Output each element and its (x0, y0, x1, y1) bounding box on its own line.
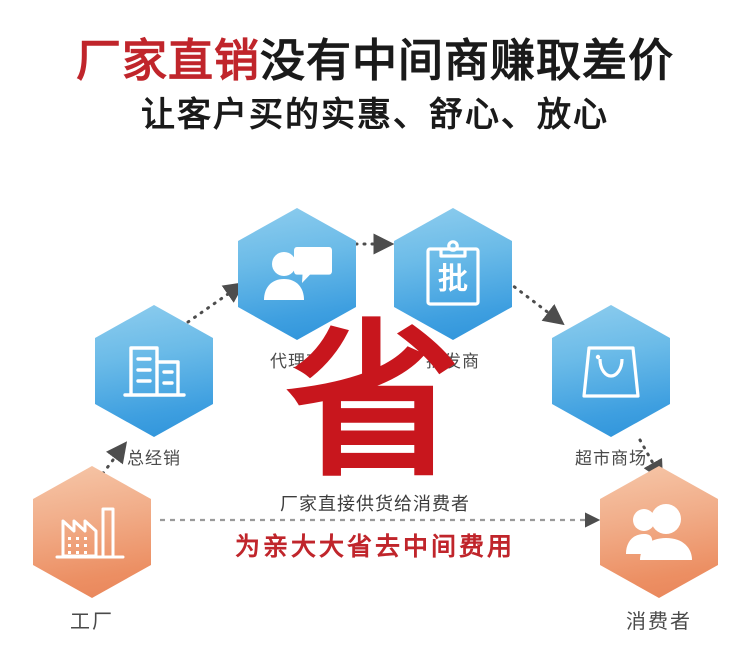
savings-caption: 为亲大大省去中间费用 (0, 527, 750, 563)
savings-stamp: 省 (288, 318, 458, 488)
node-distributor-label: 总经销 (95, 444, 213, 469)
headline-rest: 没有中间商赚取差价 (260, 35, 674, 86)
node-distributor[interactable]: 总经销 (95, 305, 213, 469)
shopping-bag-icon (580, 340, 642, 402)
headline-subtitle: 让客户买的实惠、舒心、放心 (0, 95, 750, 136)
headline-highlight: 厂家直销 (76, 35, 260, 86)
node-market[interactable]: 超市商场 (552, 305, 670, 469)
infographic-canvas: 厂家直销没有中间商赚取差价 让客户买的实惠、舒心、放心 (0, 0, 750, 659)
node-market-hexagon (552, 305, 670, 437)
headline-main: 厂家直销没有中间商赚取差价 (0, 34, 750, 87)
office-buildings-icon (121, 340, 187, 402)
savings-stamp-character: 省 (285, 318, 462, 486)
node-distributor-hexagon (95, 305, 213, 437)
node-factory-label: 工厂 (33, 605, 151, 634)
arrow-wholesaler-to-market (508, 282, 558, 320)
clipboard-icon-text: 批 (438, 262, 468, 297)
person-speech-bubble-icon (261, 243, 333, 305)
direct-supply-caption: 厂家直接供货给消费者 (0, 490, 750, 516)
node-consumer-label: 消费者 (600, 605, 718, 634)
headline-block: 厂家直销没有中间商赚取差价 让客户买的实惠、舒心、放心 (0, 34, 750, 136)
clipboard-pi-icon: 批 (423, 240, 483, 308)
